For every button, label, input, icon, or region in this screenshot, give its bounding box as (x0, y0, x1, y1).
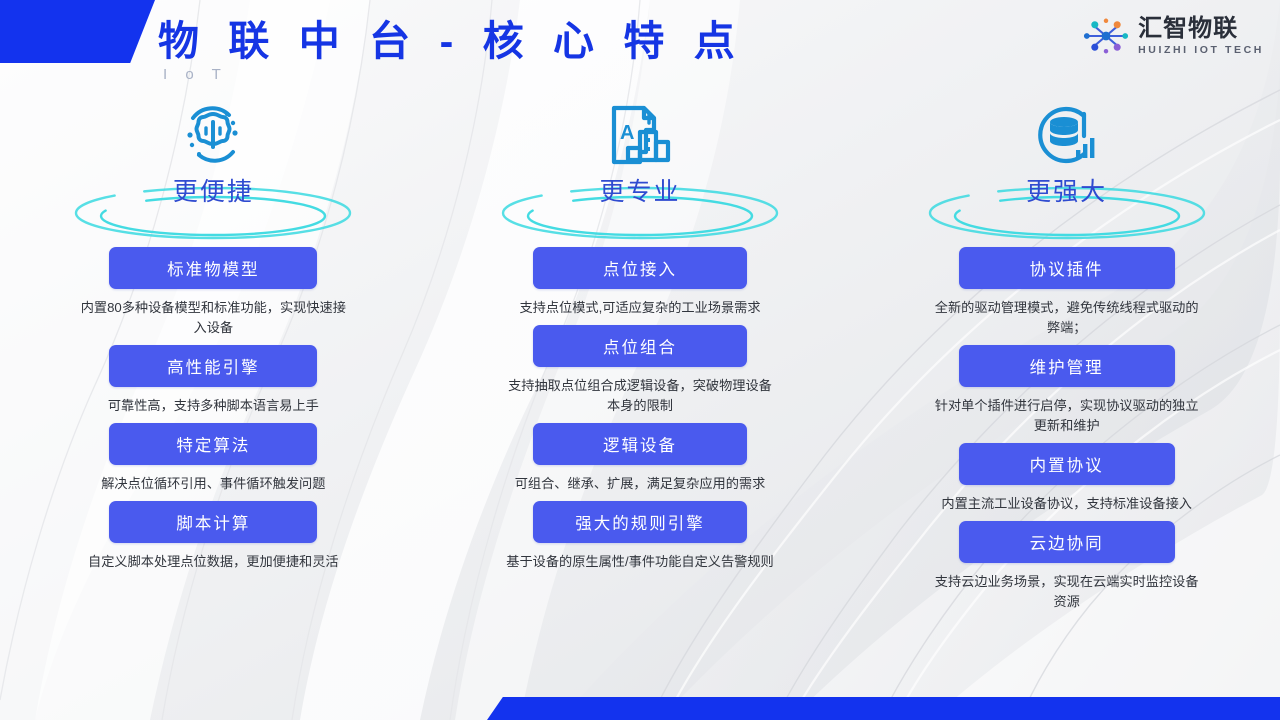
feature-pill[interactable]: 高性能引擎 (109, 345, 317, 387)
feature-item: 协议插件 全新的驱动管理模式，避免传统线程式驱动的弊端； (917, 247, 1217, 338)
feature-column-1: 更便捷 标准物模型 内置80多种设备模型和标准功能，实现快速接入设备 高性能引擎… (0, 92, 427, 720)
feature-item: 高性能引擎 可靠性高，支持多种脚本语言易上手 (63, 345, 363, 416)
feature-pill[interactable]: 点位接入 (533, 247, 747, 289)
feature-pill[interactable]: 内置协议 (959, 443, 1175, 485)
column-title: 更强大 (1026, 172, 1107, 208)
feature-pill[interactable]: 点位组合 (533, 325, 747, 367)
column-title: 更专业 (599, 172, 680, 208)
feature-desc: 可靠性高，支持多种脚本语言易上手 (80, 396, 346, 416)
feature-item: 脚本计算 自定义脚本处理点位数据，更加便捷和灵活 (63, 501, 363, 572)
column-title-wrap-1: 更便捷 (63, 168, 363, 240)
feature-desc: 支持抽取点位组合成逻辑设备，突破物理设备本身的限制 (504, 376, 776, 416)
feature-desc: 支持云边业务场景，实现在云端实时监控设备资源 (931, 572, 1203, 612)
feature-column-3: 更强大 协议插件 全新的驱动管理模式，避免传统线程式驱动的弊端； 维护管理 针对… (853, 92, 1280, 720)
feature-desc: 内置主流工业设备协议，支持标准设备接入 (931, 494, 1203, 514)
feature-item: 特定算法 解决点位循环引用、事件循环触发问题 (63, 423, 363, 494)
feature-item: 内置协议 内置主流工业设备协议，支持标准设备接入 (917, 443, 1217, 514)
feature-desc: 自定义脚本处理点位数据，更加便捷和灵活 (80, 552, 346, 572)
brand-logo: 汇智物联 HUIZHI IOT TECH (1082, 16, 1264, 56)
logo-tagline: HUIZHI IOT TECH (1138, 45, 1264, 56)
feature-item: 维护管理 针对单个插件进行启停，实现协议驱动的独立更新和维护 (917, 345, 1217, 436)
column-title-wrap-2: 更专业 (490, 168, 790, 240)
document-a-plus-building-icon: A (606, 102, 674, 168)
feature-desc: 针对单个插件进行启停，实现协议驱动的独立更新和维护 (931, 396, 1203, 436)
page-title: 物 联 中 台 - 核 心 特 点 (158, 14, 744, 68)
brain-gear-icon (177, 102, 249, 168)
feature-columns: 更便捷 标准物模型 内置80多种设备模型和标准功能，实现快速接入设备 高性能引擎… (0, 92, 1280, 720)
footer-accent-bar (487, 697, 1280, 720)
feature-pill[interactable]: 逻辑设备 (533, 423, 747, 465)
molecule-network-icon (1082, 16, 1130, 56)
feature-pill[interactable]: 强大的规则引擎 (533, 501, 747, 543)
database-analytics-icon (1032, 102, 1102, 168)
feature-desc: 可组合、继承、扩展，满足复杂应用的需求 (504, 474, 776, 494)
feature-pill[interactable]: 标准物模型 (109, 247, 317, 289)
feature-desc: 内置80多种设备模型和标准功能，实现快速接入设备 (80, 298, 346, 338)
logo-name: 汇智物联 (1138, 17, 1264, 41)
feature-pill[interactable]: 维护管理 (959, 345, 1175, 387)
svg-text:A: A (620, 122, 634, 144)
feature-item: 点位接入 支持点位模式,可适应复杂的工业场景需求 (490, 247, 790, 318)
feature-pill[interactable]: 云边协同 (959, 521, 1175, 563)
feature-pill[interactable]: 特定算法 (109, 423, 317, 465)
page-subtitle: I o T (163, 66, 228, 83)
feature-item: 标准物模型 内置80多种设备模型和标准功能，实现快速接入设备 (63, 247, 363, 338)
column-title-wrap-3: 更强大 (917, 168, 1217, 240)
feature-column-2: A 更专业 点位接入 支持点位 (427, 92, 854, 720)
column-title: 更便捷 (173, 172, 254, 208)
feature-desc: 基于设备的原生属性/事件功能自定义告警规则 (504, 552, 776, 572)
feature-pill[interactable]: 脚本计算 (109, 501, 317, 543)
feature-desc: 支持点位模式,可适应复杂的工业场景需求 (504, 298, 776, 318)
feature-item: 云边协同 支持云边业务场景，实现在云端实时监控设备资源 (917, 521, 1217, 612)
feature-pill[interactable]: 协议插件 (959, 247, 1175, 289)
feature-desc: 解决点位循环引用、事件循环触发问题 (80, 474, 346, 494)
feature-item: 强大的规则引擎 基于设备的原生属性/事件功能自定义告警规则 (490, 501, 790, 572)
feature-item: 点位组合 支持抽取点位组合成逻辑设备，突破物理设备本身的限制 (490, 325, 790, 416)
feature-item: 逻辑设备 可组合、继承、扩展，满足复杂应用的需求 (490, 423, 790, 494)
feature-desc: 全新的驱动管理模式，避免传统线程式驱动的弊端； (931, 298, 1203, 338)
